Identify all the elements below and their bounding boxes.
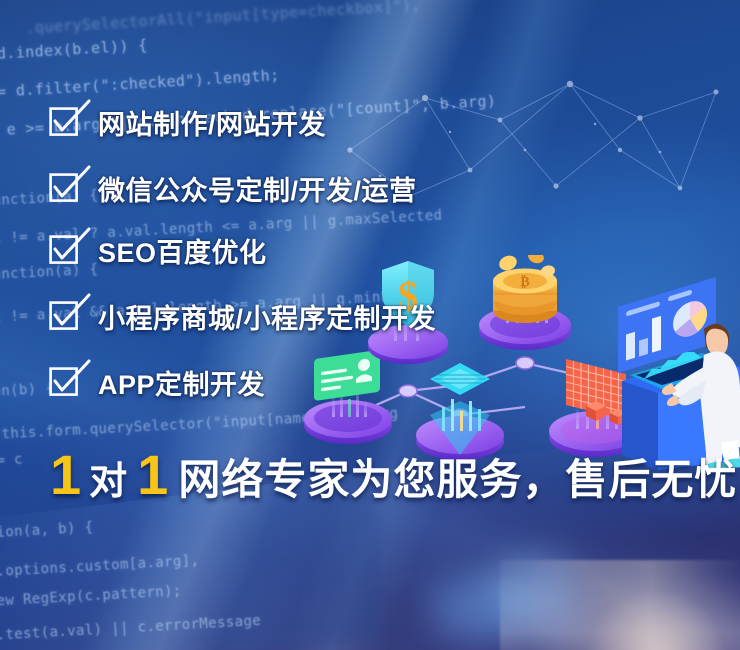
banner-content: 网站制作/网站开发 微信公众号定制/开发/运营 (0, 0, 740, 650)
feature-item-website[interactable]: 网站制作/网站开发 (52, 100, 692, 144)
headline-slogan: 1 对 1 网络专家为您服务，售后无忧！ (50, 447, 740, 503)
feature-item-app[interactable]: APP定制开发 (52, 360, 692, 404)
feature-list: 网站制作/网站开发 微信公众号定制/开发/运营 (52, 100, 692, 426)
headline-tail-text: 网络专家为您服务，售后无忧！ (178, 459, 740, 501)
feature-label: SEO百度优化 (98, 231, 267, 270)
feature-item-seo[interactable]: SEO百度优化 (52, 228, 692, 272)
checkbox-checked-icon (52, 236, 80, 264)
checkbox-checked-icon (52, 368, 80, 396)
checkbox-checked-icon (52, 302, 80, 330)
checkbox-checked-icon (52, 174, 80, 202)
feature-label: 网站制作/网站开发 (98, 103, 326, 142)
headline-number-first: 1 (50, 447, 81, 503)
checkbox-checked-icon (52, 108, 80, 136)
feature-label: APP定制开发 (98, 363, 265, 402)
promo-banner: .querySelectorAll("input[type=checkbox]"… (0, 0, 740, 650)
feature-item-miniprogram[interactable]: 小程序商城/小程序定制开发 (52, 294, 692, 338)
feature-label: 小程序商城/小程序定制开发 (98, 297, 436, 336)
feature-label: 微信公众号定制/开发/运营 (98, 169, 417, 208)
feature-item-wechat[interactable]: 微信公众号定制/开发/运营 (52, 166, 692, 210)
headline-separator: 对 (89, 463, 127, 501)
headline-number-second: 1 (137, 447, 168, 503)
